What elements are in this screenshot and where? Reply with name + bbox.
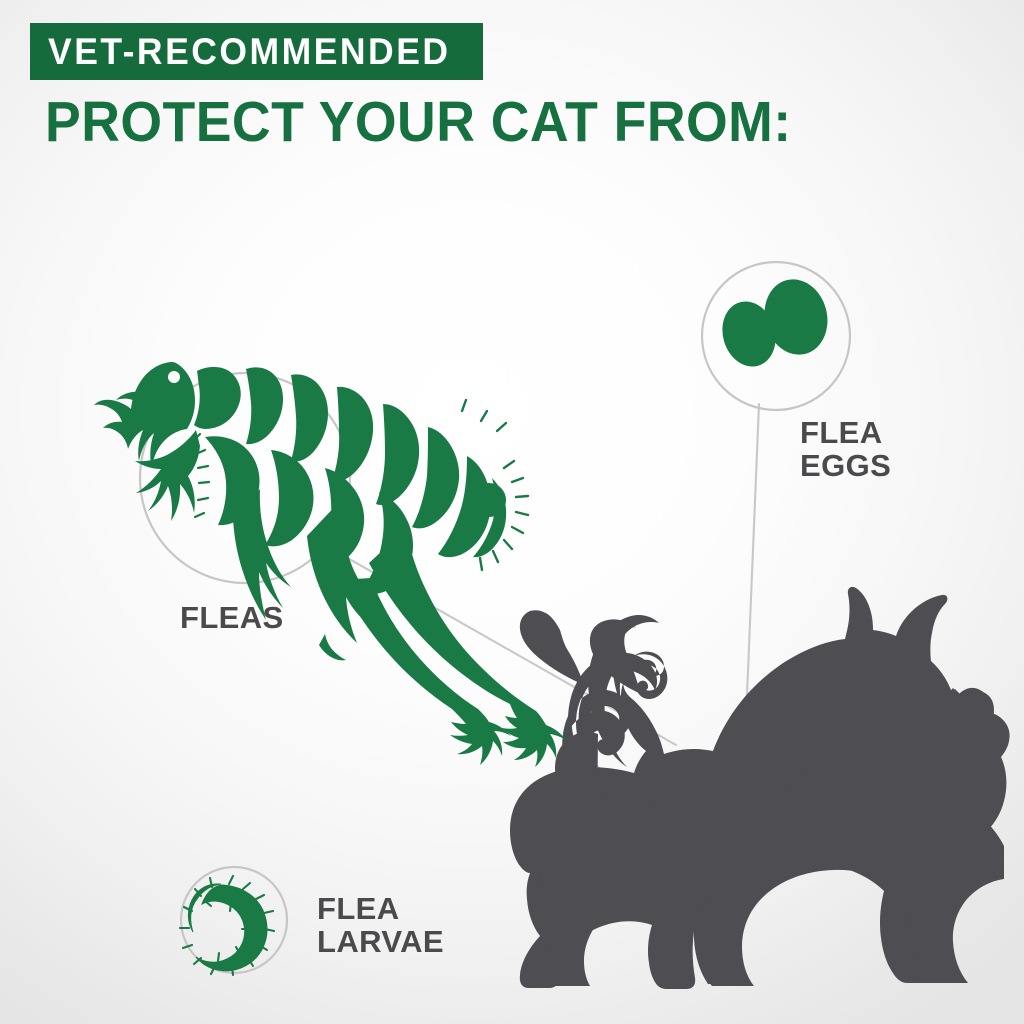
flea-larva-icon xyxy=(180,876,274,975)
cat-body xyxy=(539,619,999,984)
flea-larvae-circle xyxy=(181,867,287,973)
callout-label-flea-eggs: FLEA EGGS xyxy=(800,417,891,483)
leader-line-fleas xyxy=(330,548,676,745)
leader-line-eggs xyxy=(744,404,759,768)
flea-eggs-circle xyxy=(702,262,850,410)
fleas-callout xyxy=(94,362,566,767)
callout-label-fleas: FLEAS xyxy=(180,602,284,635)
cat-silhouette xyxy=(510,587,1010,989)
flea-eggs-icon xyxy=(715,273,835,373)
leader-lines xyxy=(330,404,759,768)
flea-eggs-callout xyxy=(702,262,850,410)
cat-figure xyxy=(541,653,1004,986)
callout-label-flea-larvae: FLEA LARVAE xyxy=(317,893,444,959)
fleas-circle xyxy=(140,373,350,583)
vet-recommended-badge-label: VET-RECOMMENDED xyxy=(48,33,451,70)
infographic-poster: VET-RECOMMENDED PROTECT YOUR CAT FROM: xyxy=(0,0,1024,1024)
flea-larvae-callout xyxy=(180,867,287,975)
vet-recommended-badge: VET-RECOMMENDED xyxy=(30,23,483,80)
flea-icon xyxy=(94,362,566,767)
page-title: PROTECT YOUR CAT FROM: xyxy=(45,94,792,151)
